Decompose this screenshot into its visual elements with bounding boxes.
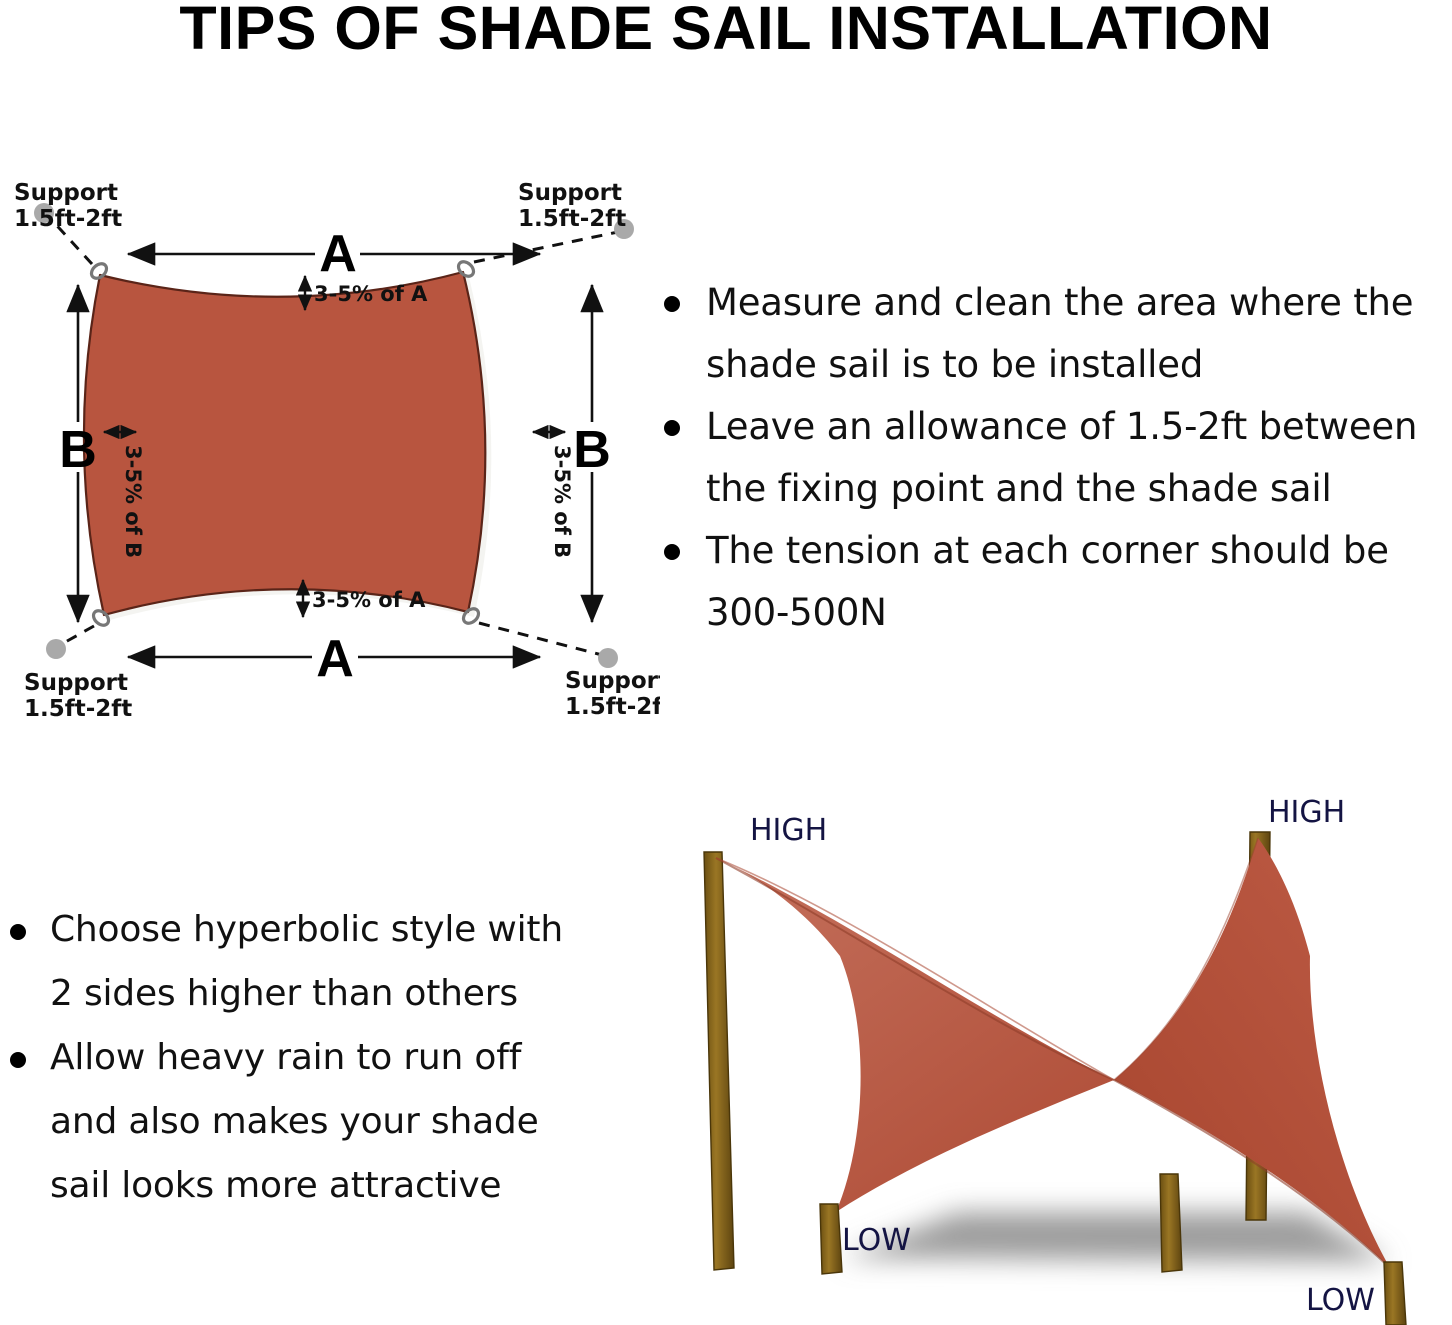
tip-list-top: Measure and clean the area where the sha…	[648, 272, 1452, 644]
sail-shape-group	[716, 838, 1390, 1268]
support-post-far-right-low	[1384, 1262, 1406, 1325]
dimension-label-b-right: B	[573, 421, 611, 479]
corner-label-high-right: HIGH	[1268, 795, 1345, 830]
list-item: Allow heavy rain to run off and also mak…	[2, 1026, 630, 1218]
support-anchor-dot	[598, 648, 618, 668]
list-item: Choose hyperbolic style with 2 sides hig…	[2, 898, 630, 1026]
sail-fabric	[84, 272, 485, 615]
tip-line: Leave an allowance of 1.5-2ft between	[706, 396, 1452, 458]
support-label-bottom-right-line1: Support	[565, 668, 660, 694]
bullet-icon	[664, 296, 680, 312]
hyperbolic-shade-sail-illustration: HIGH HIGH LOW LOW	[690, 780, 1452, 1325]
support-anchor-dot	[46, 639, 66, 659]
corner-label-high-left: HIGH	[750, 813, 827, 848]
bullet-icon	[664, 420, 680, 436]
bullet-icon	[664, 544, 680, 560]
corner-label-low-right: LOW	[1306, 1283, 1375, 1318]
tether-line	[479, 623, 602, 655]
tip-line: Choose hyperbolic style with	[50, 898, 630, 962]
dimension-label-b-left: B	[59, 421, 97, 479]
tether-line	[60, 626, 94, 645]
list-item: Leave an allowance of 1.5-2ft between th…	[648, 396, 1452, 520]
support-label-top-left-line1: Support	[14, 180, 118, 206]
tip-line: The tension at each corner should be	[706, 520, 1452, 582]
dimension-label-a-top: A	[319, 225, 357, 283]
support-label-bottom-left-line1: Support	[24, 670, 128, 696]
curve-depth-label-bottom: 3-5% of A	[312, 588, 426, 612]
page-title: TIPS OF SHADE SAIL INSTALLATION	[0, 0, 1452, 60]
support-post-front-right	[1160, 1174, 1182, 1272]
hyperbolic-style-tips-list: Choose hyperbolic style with 2 sides hig…	[2, 898, 630, 1218]
tether-line	[474, 232, 618, 262]
curve-depth-label-right: 3-5% of B	[550, 445, 574, 558]
tip-line: shade sail is to be installed	[706, 334, 1452, 396]
tip-line: Allow heavy rain to run off	[50, 1026, 630, 1090]
tip-line: 2 sides higher than others	[50, 962, 630, 1026]
tip-line: 300-500N	[706, 582, 1452, 644]
curve-depth-label-top: 3-5% of A	[314, 282, 428, 306]
list-item: Measure and clean the area where the sha…	[648, 272, 1452, 396]
curve-depth-label-left: 3-5% of B	[121, 445, 145, 558]
tip-line: sail looks more attractive	[50, 1154, 630, 1218]
rectangular-shade-sail-dimension-diagram: Support 1.5ft-2ft Support 1.5ft-2ft Supp…	[0, 160, 660, 740]
support-label-top-right-line2: 1.5ft-2ft	[518, 206, 626, 232]
tip-list-bottom: Choose hyperbolic style with 2 sides hig…	[2, 898, 630, 1218]
sail-fabric-left-lobe	[716, 858, 1114, 1212]
support-label-top-right-line1: Support	[518, 180, 622, 206]
bullet-icon	[10, 1052, 26, 1068]
corner-label-low-left: LOW	[842, 1223, 911, 1258]
list-item: The tension at each corner should be 300…	[648, 520, 1452, 644]
support-label-bottom-left-line2: 1.5ft-2ft	[24, 696, 132, 722]
support-post-back-left	[704, 852, 734, 1270]
dimension-label-a-bottom: A	[316, 630, 354, 688]
support-post-front-left	[820, 1204, 842, 1274]
ground-shadow	[842, 1212, 1390, 1262]
support-label-top-left-line2: 1.5ft-2ft	[14, 206, 122, 232]
tip-line: the fixing point and the shade sail	[706, 458, 1452, 520]
support-label-bottom-right-line2: 1.5ft-2ft	[565, 694, 660, 720]
installation-tips-list: Measure and clean the area where the sha…	[648, 272, 1452, 644]
tip-line: Measure and clean the area where the	[706, 272, 1452, 334]
tip-line: and also makes your shade	[50, 1090, 630, 1154]
bullet-icon	[10, 924, 26, 940]
